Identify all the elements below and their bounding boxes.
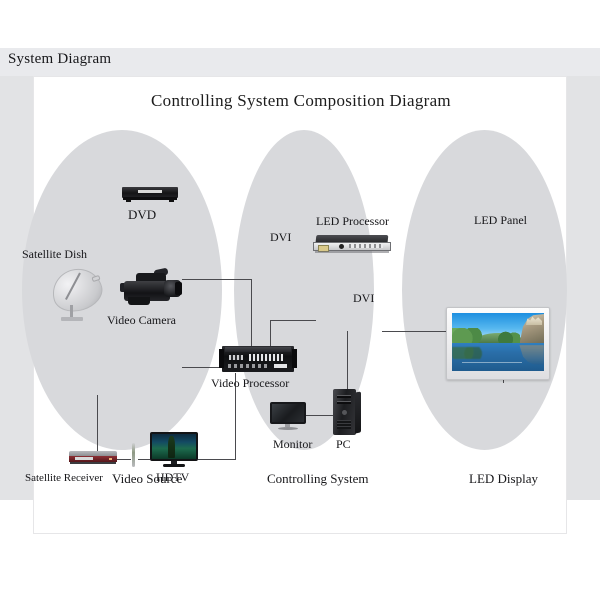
- node-label-video-camera: Video Camera: [107, 314, 176, 326]
- edge-camera-to-processor: [182, 367, 222, 368]
- edge-bus-dvd-down: [251, 279, 252, 346]
- group-label-video-source: Video Source: [112, 472, 182, 485]
- satellite-receiver-icon: [69, 451, 117, 465]
- node-label-dvd: DVD: [128, 208, 156, 221]
- edge-pc-to-ledproc: [347, 331, 348, 389]
- satellite-dish-icon: [48, 267, 110, 323]
- edge-antenna-to-hdtv: [138, 459, 150, 460]
- page-title: System Diagram: [8, 52, 111, 67]
- edge-label-dvi-pc-to-led: DVI: [353, 292, 374, 304]
- led-display-screen: [446, 307, 550, 380]
- edge-label-dvi-video-to-led: DVI: [270, 231, 291, 243]
- node-label-pc: PC: [336, 438, 351, 450]
- edge-processor-up: [270, 320, 271, 347]
- video-camera-icon: [120, 269, 182, 307]
- node-label-monitor: Monitor: [273, 438, 312, 450]
- antenna-icon: [130, 443, 137, 467]
- page-top-margin: [0, 0, 600, 48]
- group-label-controlling-system: Controlling System: [267, 472, 368, 485]
- group-label-led-display: LED Display: [469, 472, 538, 485]
- edge-hdtv-to-bus: [198, 459, 236, 460]
- screenshot-root: System Diagram Controlling System Compos…: [0, 0, 600, 600]
- node-label-video-processor: Video Processor: [211, 377, 289, 389]
- hdtv-icon: [150, 432, 198, 468]
- edge-dvd-to-bus: [182, 279, 252, 280]
- pc-tower-icon: [333, 389, 361, 435]
- node-label-led-processor: LED Processor: [316, 215, 389, 227]
- node-label-satellite-receiver: Satellite Receiver: [25, 473, 103, 484]
- edge-monitor-to-pc: [306, 415, 334, 416]
- dvd-player-icon: [122, 185, 178, 201]
- node-label-satellite-dish: Satellite Dish: [22, 248, 87, 260]
- video-processor-icon: [222, 346, 294, 372]
- monitor-icon: [270, 402, 306, 430]
- group-ellipse-led-display: [402, 130, 567, 450]
- node-label-led-panel: LED Panel: [474, 214, 527, 226]
- edge-processor-to-ledproc: [270, 320, 316, 321]
- diagram-title: Controlling System Composition Diagram: [34, 91, 568, 111]
- edge-dish-to-receiver: [97, 395, 98, 453]
- led-processor-icon: [313, 235, 391, 255]
- edge-receiver-to-antenna: [117, 459, 131, 460]
- diagram-card: Controlling System Composition Diagram: [33, 76, 567, 534]
